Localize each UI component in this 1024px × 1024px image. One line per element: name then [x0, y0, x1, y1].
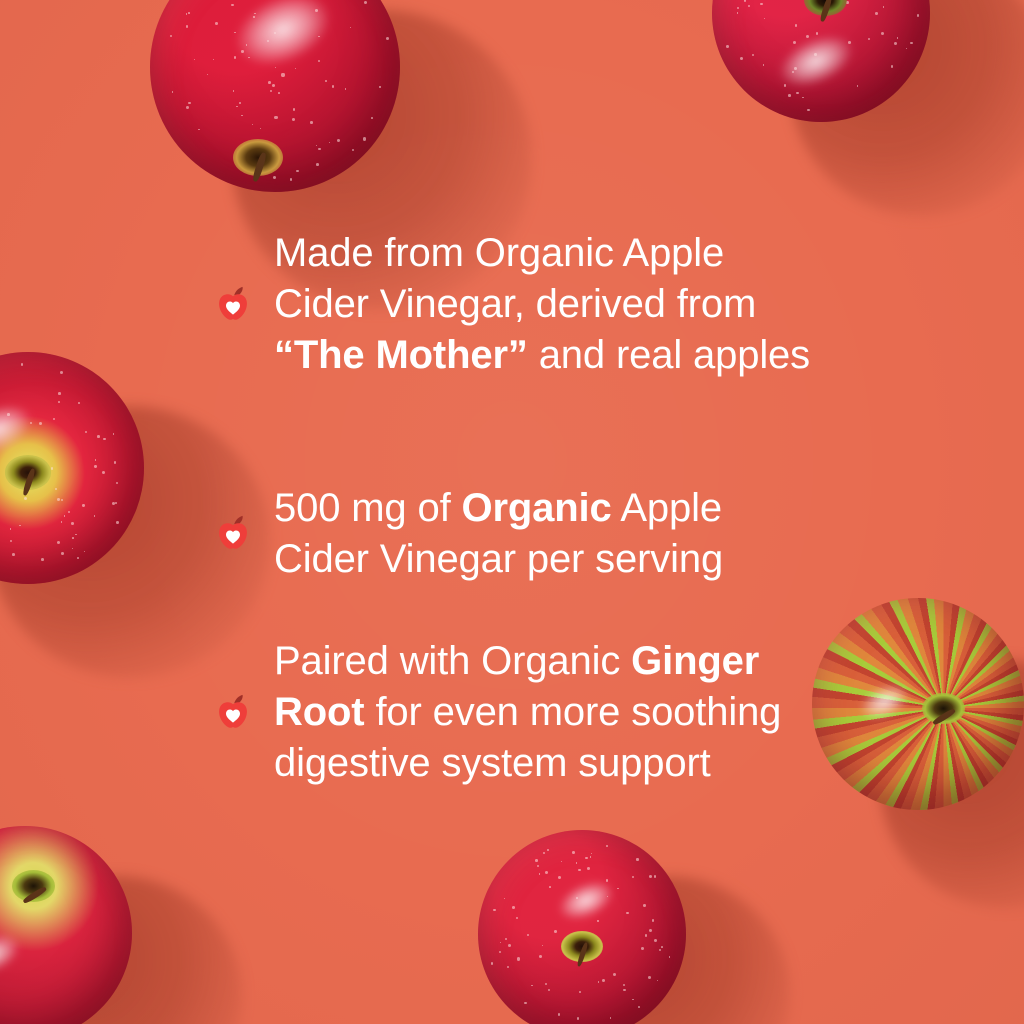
benefit-plain: and real apples	[528, 333, 810, 377]
benefit-text-2: 500 mg of Organic Apple Cider Vinegar pe…	[274, 483, 814, 585]
benefit-text-3: Paired with Organic Ginger Root for even…	[274, 636, 814, 789]
benefits-list: Made from Organic Apple Cider Vinegar, d…	[0, 0, 1024, 1024]
promo-panel: Made from Organic Apple Cider Vinegar, d…	[0, 0, 1024, 1024]
benefit-item-3: Paired with Organic Ginger Root for even…	[218, 636, 818, 789]
benefit-plain: Paired with Organic	[274, 639, 631, 683]
apple-heart-icon	[218, 286, 248, 324]
apple-heart-icon	[218, 694, 248, 732]
benefit-plain: 500 mg of	[274, 486, 462, 530]
benefit-plain: Made from Organic Apple Cider Vinegar, d…	[274, 231, 756, 326]
apple-heart-icon	[218, 515, 248, 553]
benefit-item-2: 500 mg of Organic Apple Cider Vinegar pe…	[218, 483, 818, 585]
benefit-emphasis: “The Mother”	[274, 333, 528, 377]
benefit-emphasis: Organic	[462, 486, 612, 530]
benefit-text-1: Made from Organic Apple Cider Vinegar, d…	[274, 228, 814, 381]
benefit-item-1: Made from Organic Apple Cider Vinegar, d…	[218, 228, 818, 381]
